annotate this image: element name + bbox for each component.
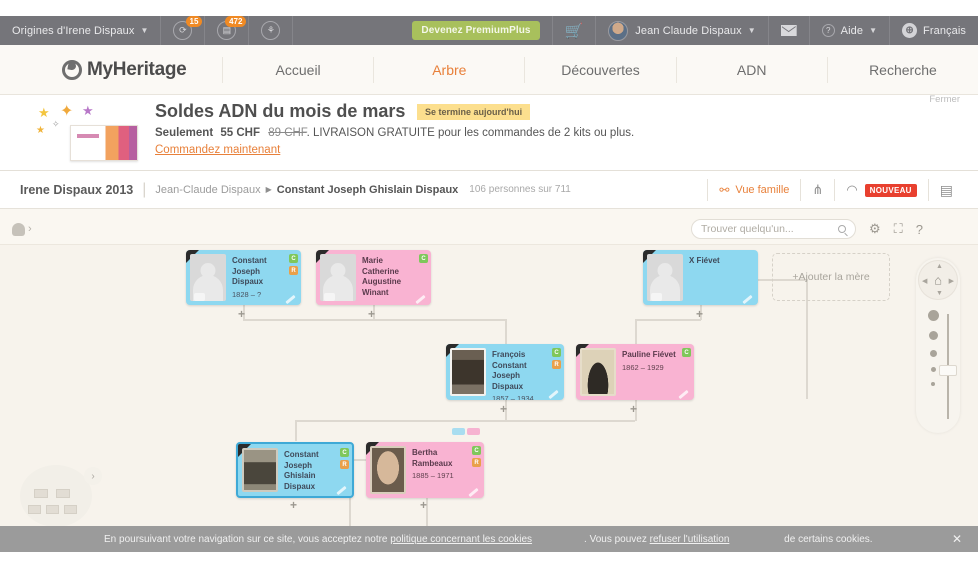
tree-line [295,420,297,441]
floppy-icon: ▤ 472 [217,21,236,40]
canvas-tools: Trouver quelqu'un... ⚙ ⛶ ? [691,219,923,239]
tree-origins-label: Origines d'Irene Dispaux [12,25,135,37]
view-pedigree-button[interactable]: ⋔ [800,179,834,201]
person-dates: 1885 – 1971 [412,471,480,482]
breadcrumb-current-person: Constant Joseph Ghislain Dispaux [277,184,459,196]
cookie-text: En poursuivant votre navigation sur ce s… [52,534,873,545]
view-family-label: Vue famille [735,184,789,196]
sync-button[interactable]: ⟳ 15 [161,16,205,45]
pan-right-icon[interactable]: ▶ [949,277,954,285]
help-menu[interactable]: ? Aide ▼ [810,16,890,45]
dna-icon: ⚘ [261,21,280,40]
person-photo [580,348,616,396]
view-tools: ⚯ Vue famille ⋔ ◠ NOUVEAU ▤ [707,176,964,204]
chevron-right-icon: › [28,223,32,235]
cart-button[interactable]: 🛒 [552,16,597,45]
breadcrumb-tree-name[interactable]: Irene Dispaux 2013 [20,183,133,197]
kit-box [70,125,138,161]
tree-line [505,319,507,344]
home-icon[interactable]: ⌂ [934,273,942,288]
person-photo [370,446,406,494]
promo-cta-link[interactable]: Commandez maintenant [155,144,280,156]
add-relative-button[interactable]: + [500,402,507,416]
person-dates: 1862 – 1929 [622,363,690,374]
zoom-dot-5[interactable] [931,382,935,386]
promo-subtitle: Seulement 55 CHF 89 CHF. LIVRAISON GRATU… [155,127,634,139]
tree-line [635,319,701,321]
org-chart-icon: ⋔ [812,182,823,198]
tree-line [349,493,351,529]
search-placeholder: Trouver quelqu'un... [701,223,794,235]
inbox-button[interactable] [769,16,810,45]
sibling-pair-indicator[interactable] [452,428,480,435]
promo-sub-rest: . LIVRAISON GRATUITE pour les commandes … [307,127,635,139]
pan-down-icon[interactable]: ▼ [936,290,943,297]
chevron-down-icon: ▼ [141,26,149,35]
sparkle-icon: ✧ [52,119,60,130]
view-fan-button[interactable]: ◠ NOUVEAU [834,179,927,201]
sync-icon: ⟳ 15 [173,21,192,40]
pan-up-icon[interactable]: ▲ [936,263,943,270]
close-icon[interactable]: ✕ [952,532,962,546]
dna-button[interactable]: ⚘ [249,16,293,45]
person-card-constant-ghislain-dispaux[interactable]: Constant Joseph Ghislain Dispaux 1883 – … [236,442,354,498]
logo-icon [62,60,82,80]
globe-icon: ⊕ [902,23,917,38]
sparkle-icon: ✦ [60,101,73,121]
promo-sub-prefix: Seulement [155,127,213,139]
user-menu[interactable]: Jean Claude Dispaux ▼ [596,16,768,45]
smart-match-badge[interactable]: C [552,348,561,357]
camera-icon[interactable] [324,293,335,301]
sparkle-icon: ★ [82,103,94,119]
search-icon [838,225,846,233]
cookie-text-1: En poursuivant votre navigation sur ce s… [104,534,390,545]
language-label: Français [923,25,966,37]
person-icon [12,223,25,236]
gear-icon[interactable]: ⚙ [869,221,881,237]
breadcrumb-arrow-icon: ▶ [266,185,272,194]
zoom-slider-handle[interactable] [939,365,957,376]
minimap-control[interactable]: › [20,465,102,527]
promo-expiry-flag: Se termine aujourd'hui [417,104,530,120]
myheritage-logo[interactable]: MyHeritage [62,59,222,81]
premium-label: Devenez PremiumPlus [412,21,539,40]
tree-line [295,420,635,422]
smart-match-badge[interactable]: C [289,254,298,263]
person-card-pauline-fievet[interactable]: Pauline Fiévet 1862 – 1929 C [576,344,694,400]
add-relative-button[interactable]: + [420,498,427,512]
add-relative-button[interactable]: + [290,498,297,512]
person-dates: 1828 – ? [232,290,297,301]
camera-icon[interactable] [194,293,205,301]
cookie-consent-bar: En poursuivant votre navigation sur ce s… [0,526,978,552]
record-match-badge[interactable]: R [340,460,349,469]
cart-icon: 🛒 [565,22,584,40]
footer-spacer [0,552,978,571]
family-view-icon: ⚯ [719,183,729,197]
minimap-node [56,489,70,498]
record-match-badge[interactable]: R [289,266,298,275]
tree-line [635,319,637,344]
mail-icon [781,25,797,36]
zoom-level-dots[interactable] [925,310,941,396]
fan-chart-icon: ◠ [846,182,857,198]
nav-item-recherche[interactable]: Recherche [827,57,978,83]
record-match-badge[interactable]: R [552,360,561,369]
person-card-francois-dispaux[interactable]: François Constant Joseph Dispaux 1857 – … [446,344,564,400]
cookie-refuse-link[interactable]: refuser l'utilisation [650,534,730,545]
chevron-down-icon: ▼ [748,26,756,35]
person-card-x-fievet[interactable]: X Fiévet [643,250,758,305]
promo-close-link[interactable]: Fermer [929,94,960,105]
tree-origins-selector[interactable]: Origines d'Irene Dispaux ▼ [0,16,161,45]
question-icon: ? [822,24,835,37]
nav-item-decouvertes[interactable]: Découvertes [524,57,675,83]
sync-count-badge: 15 [186,16,203,27]
new-badge: NOUVEAU [865,184,917,197]
sparkle-icon: ★ [38,105,50,121]
promo-title: Soldes ADN du mois de mars [155,101,405,122]
pan-left-icon[interactable]: ◀ [922,277,927,285]
main-navigation: MyHeritage Accueil Arbre Découvertes ADN… [0,45,978,95]
table-view-icon: ▤ [940,182,953,199]
view-family-button[interactable]: ⚯ Vue famille [707,179,800,201]
promo-price: 55 CHF [220,127,260,139]
help-label: Aide [841,25,863,37]
smart-match-badge[interactable]: C [419,254,428,263]
avatar [608,21,628,41]
cookie-text-2: . Vous pouvez [584,534,650,545]
nav-item-adn[interactable]: ADN [676,57,827,83]
add-relative-button[interactable]: + [696,307,703,321]
dna-kit-image: ★ ✦ ★ ★ ✧ [30,103,148,165]
add-relative-button[interactable]: + [368,307,375,321]
cookie-text-3: de certains cookies. [781,534,872,545]
map-navigation-panel: ⌂ ▲ ▼ ◀ ▶ [916,258,960,433]
minimap-node [64,505,77,514]
compass-control[interactable]: ⌂ ▲ ▼ ◀ ▶ [918,260,958,300]
add-relative-button[interactable]: + [630,402,637,416]
zoom-dot-2[interactable] [929,331,938,340]
promo-old-price: 89 CHF [268,127,306,139]
language-menu[interactable]: ⊕ Français [890,16,978,45]
smart-match-badge[interactable]: C [682,348,691,357]
question-icon[interactable]: ? [916,222,923,237]
search-input[interactable]: Trouver quelqu'un... [691,219,856,239]
fullscreen-icon[interactable]: ⛶ [894,221,903,237]
breadcrumb-people-count: 106 personnes sur 711 [469,184,571,195]
minimap-node [46,505,59,514]
smart-match-badge[interactable]: C [340,448,349,457]
top-utility-bar: Origines d'Irene Dispaux ▼ ⟳ 15 ▤ 472 ⚘ … [0,16,978,45]
zoom-dot-1[interactable] [928,310,939,321]
user-name-label: Jean Claude Dispaux [635,25,741,37]
nav-item-accueil[interactable]: Accueil [222,57,373,83]
person-card-constant-joseph-dispaux[interactable]: Constant Joseph Dispaux 1828 – ? C R [186,250,301,305]
chevron-down-icon: ▼ [869,26,877,35]
tree-canvas[interactable]: › Trouver quelqu'un... ⚙ ⛶ ? Constant Jo… [0,209,978,529]
myheritage-tree-page: Origines d'Irene Dispaux ▼ ⟳ 15 ▤ 472 ⚘ … [0,0,978,571]
minimap-node [34,489,48,498]
add-relative-button[interactable]: + [238,307,245,321]
sparkle-icon: ★ [36,125,45,136]
person-panel-toggle[interactable]: › [12,218,52,240]
premium-upsell-button[interactable]: Devenez PremiumPlus [400,16,551,45]
nav-item-arbre[interactable]: Arbre [373,57,524,83]
minimap-expand-icon[interactable]: › [84,467,102,485]
cookie-policy-link[interactable]: politique concernant les cookies [390,534,532,545]
person-card-bertha-rambeaux[interactable]: Bertha Rambeaux 1885 – 1971 C R [366,442,484,498]
breadcrumb-divider: | [142,181,146,199]
saved-records-button[interactable]: ▤ 472 [205,16,249,45]
person-photo [450,348,486,396]
breadcrumb-owner[interactable]: Jean-Claude Dispaux [155,184,260,196]
person-photo [242,448,278,492]
zoom-dot-4[interactable] [931,367,936,372]
smart-match-badge[interactable]: C [472,446,481,455]
camera-icon[interactable] [651,293,662,301]
view-table-button[interactable]: ▤ [928,179,964,201]
add-mother-button[interactable]: +Ajouter la mère [772,253,890,301]
saved-count-badge: 472 [225,16,246,27]
brand-label: MyHeritage [87,59,186,81]
minimap-node [28,505,41,514]
record-match-badge[interactable]: R [472,458,481,467]
person-card-marie-winant[interactable]: Marie Catherine Augustine Winant C [316,250,431,305]
zoom-dot-3[interactable] [930,350,937,357]
